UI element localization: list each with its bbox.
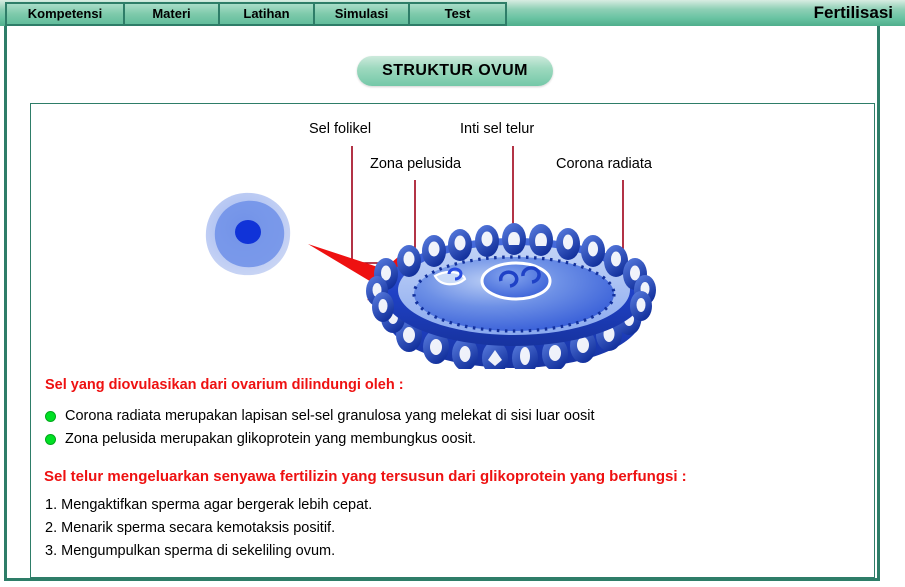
ovum-diagram: Sel folikel Zona pelusida Inti sel telur… [31,104,876,369]
slide-frame: Kompetensi Materi Latihan Simulasi Test … [0,0,905,587]
frame-border-right [877,26,880,581]
tab-latihan[interactable]: Latihan [220,4,315,24]
heading-fertilizin: Sel telur mengeluarkan senyawa fertilizi… [44,468,687,485]
label-corona-radiata: Corona radiata [556,156,652,172]
list-item: 2. Menarik sperma secara kemotaksis posi… [45,520,335,536]
heading-protection: Sel yang diovulasikan dari ovarium dilin… [45,377,404,393]
list-item: 1. Mengaktifkan sperma agar bergerak leb… [45,497,372,513]
label-sel-folikel: Sel folikel [309,121,371,137]
page-title-text: STRUKTUR OVUM [382,62,528,80]
explanation-text-block: Sel yang diovulasikan dari ovarium dilin… [31,369,876,579]
tab-strip: Kompetensi Materi Latihan Simulasi Test [5,2,507,26]
label-inti-sel-telur: Inti sel telur [460,121,534,137]
bullet-dot-icon [45,411,56,422]
immature-oocyte [206,193,290,275]
bullet-dot-icon [45,434,56,445]
tab-test[interactable]: Test [410,4,505,24]
tab-simulasi[interactable]: Simulasi [315,4,410,24]
tab-materi[interactable]: Materi [125,4,220,24]
bullet-item-zona-pelusida: Zona pelusida merupakan glikoprotein yan… [45,431,476,447]
bullet-text: Zona pelusida merupakan glikoprotein yan… [65,431,476,447]
mature-ovum [366,223,656,369]
top-navigation-bar: Kompetensi Materi Latihan Simulasi Test … [0,0,905,26]
tab-kompetensi[interactable]: Kompetensi [7,4,125,24]
label-zona-pelusida: Zona pelusida [370,156,461,172]
bullet-text: Corona radiata merupakan lapisan sel-sel… [65,408,595,424]
list-item: 3. Mengumpulkan sperma di sekeliling ovu… [45,543,335,559]
frame-border-left [4,26,7,581]
ovum-illustration [31,104,876,369]
bullet-item-corona-radiata: Corona radiata merupakan lapisan sel-sel… [45,408,595,424]
app-title: Fertilisasi [814,3,893,23]
oocyte-nucleus [235,220,261,244]
content-panel: Sel folikel Zona pelusida Inti sel telur… [30,103,875,578]
page-title-pill: STRUKTUR OVUM [357,56,553,86]
